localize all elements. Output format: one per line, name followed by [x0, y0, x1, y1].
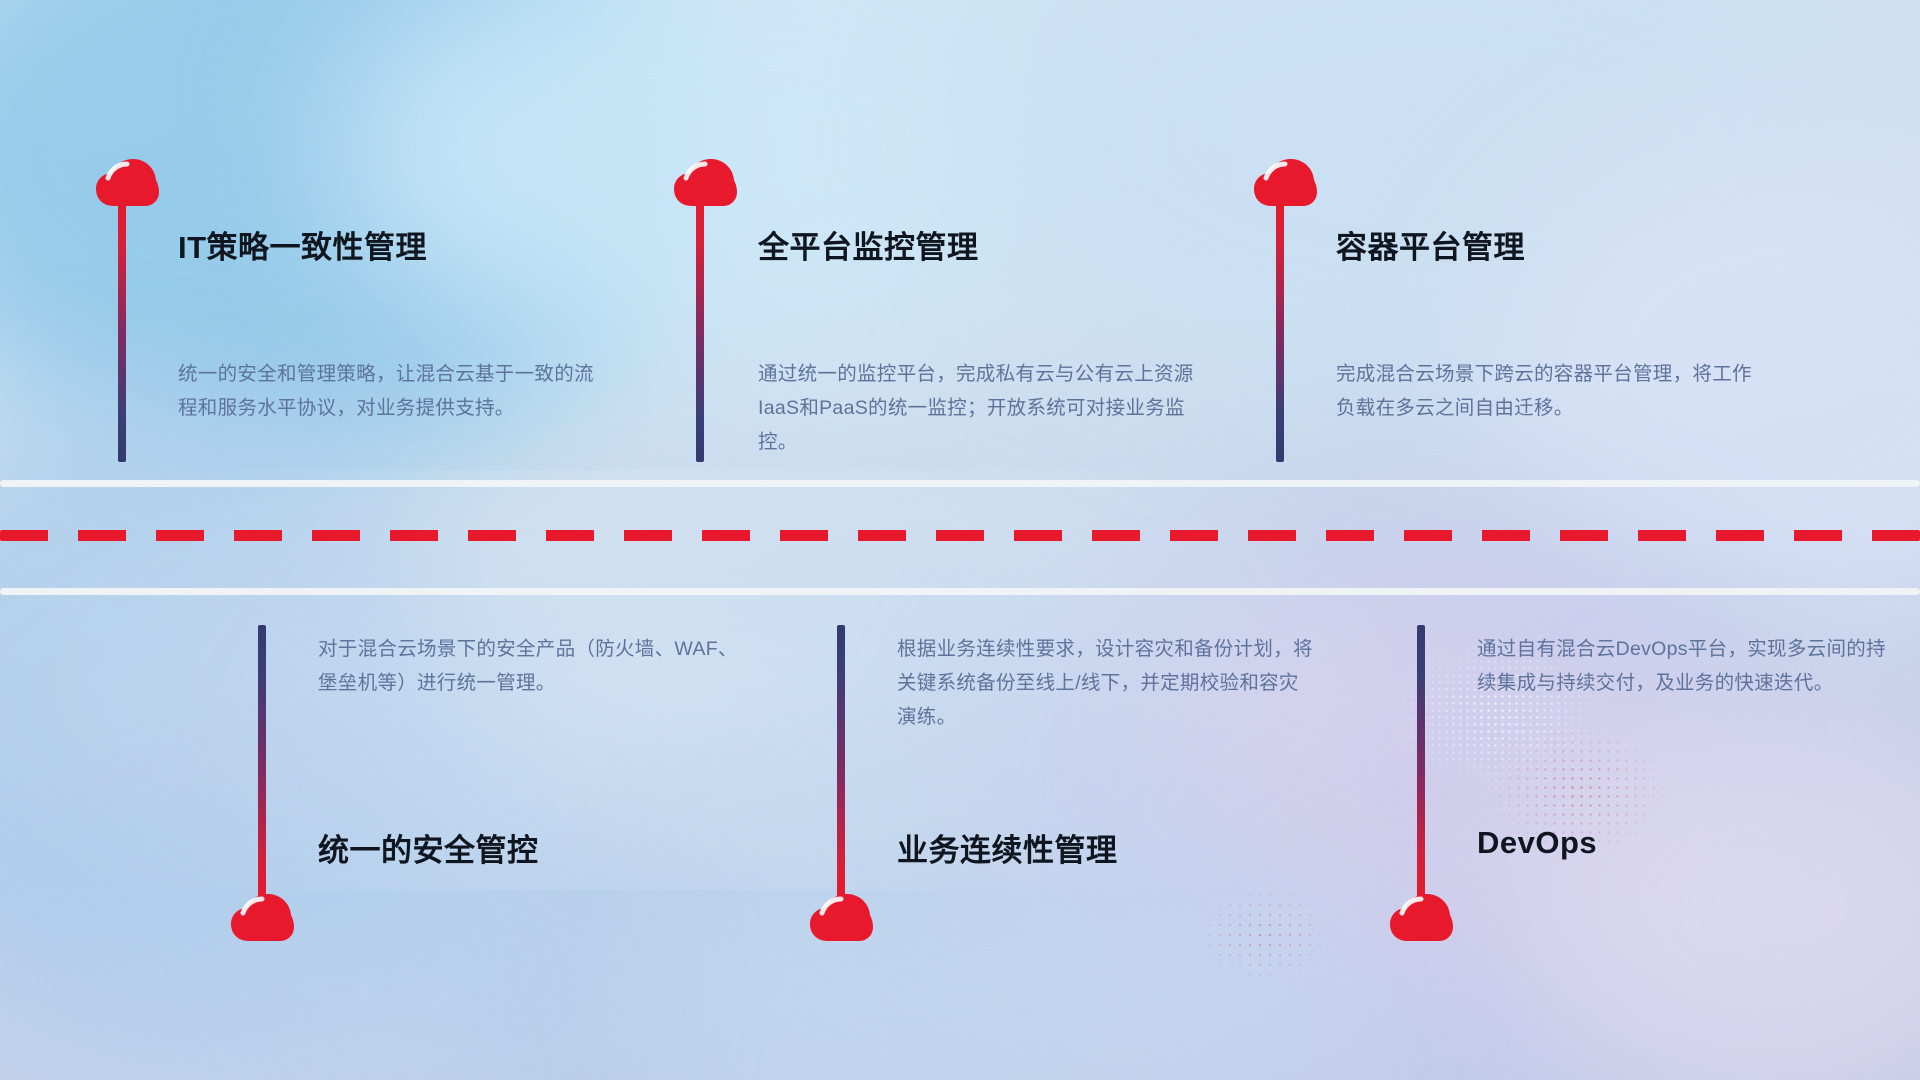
feature-title: DevOps [1477, 825, 1597, 861]
feature-title: 全平台监控管理 [758, 222, 979, 267]
cloud-icon [94, 158, 160, 208]
connector-stem [118, 200, 126, 462]
feature-title: 容器平台管理 [1336, 222, 1525, 267]
feature-description: 统一的安全和管理策略，让混合云基于一致的流程和服务水平协议，对业务提供支持。 [178, 357, 610, 425]
feature-title: 统一的安全管控 [318, 825, 539, 870]
feature-title: 业务连续性管理 [897, 825, 1118, 870]
cloud-icon [229, 893, 295, 943]
connector-stem [1276, 200, 1284, 462]
connector-stem [1417, 625, 1425, 903]
cloud-icon [1388, 893, 1454, 943]
feature-description: 对于混合云场景下的安全产品（防火墙、WAF、堡垒机等）进行统一管理。 [318, 632, 738, 700]
cloud-icon [1252, 158, 1318, 208]
connector-stem [258, 625, 266, 903]
feature-description: 根据业务连续性要求，设计容灾和备份计划，将关键系统备份至线上/线下，并定期校验和… [897, 632, 1317, 734]
connector-stem [696, 200, 704, 462]
feature-title: IT策略一致性管理 [178, 222, 427, 267]
feature-description: 通过自有混合云DevOps平台，实现多云间的持续集成与持续交付，及业务的快速迭代… [1477, 632, 1897, 700]
feature-description: 完成混合云场景下跨云的容器平台管理，将工作负载在多云之间自由迁移。 [1336, 357, 1768, 425]
diagram-stage: IT策略一致性管理 统一的安全和管理策略，让混合云基于一致的流程和服务水平协议，… [0, 0, 1920, 1080]
connector-stem [837, 625, 845, 903]
feature-description: 通过统一的监控平台，完成私有云与公有云上资源IaaS和PaaS的统一监控；开放系… [758, 357, 1200, 459]
cloud-icon [672, 158, 738, 208]
cloud-icon [808, 893, 874, 943]
